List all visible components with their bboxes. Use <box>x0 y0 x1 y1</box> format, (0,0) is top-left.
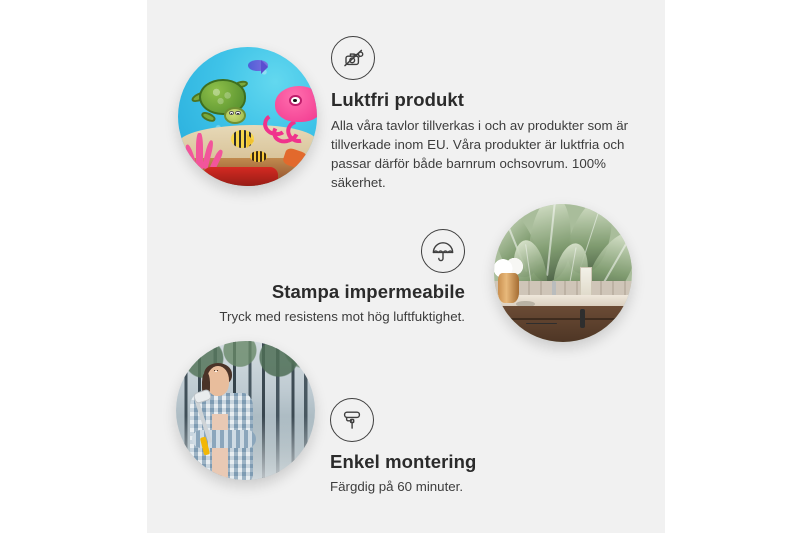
feature-odorless: Luktfri produkt Alla våra tavlor tillver… <box>331 36 631 193</box>
product-feature-panel: Luktfri produkt Alla våra tavlor tillver… <box>0 0 800 533</box>
fish-icon-yellow <box>231 130 255 148</box>
coral-icon <box>186 125 225 169</box>
feature-title: Luktfri produkt <box>331 89 631 111</box>
underwater-scene <box>178 47 317 186</box>
vanity-cabinet <box>494 306 632 342</box>
product-image-forest <box>176 341 315 480</box>
feature-title: Enkel montering <box>330 451 610 473</box>
vase-decoration <box>498 273 519 303</box>
product-image-underwater <box>178 47 317 186</box>
feature-title: Stampa impermeabile <box>215 281 465 303</box>
feature-easy-mount: Enkel montering Färgdig på 60 minuter. <box>330 398 610 497</box>
shipwreck-decoration <box>203 167 278 186</box>
umbrella-icon <box>421 229 465 273</box>
bathroom-scene <box>494 204 632 342</box>
no-perfume-icon <box>331 36 375 80</box>
person-figure <box>187 366 262 480</box>
octopus-icon <box>261 86 317 144</box>
turtle-icon <box>195 78 259 128</box>
feature-description: Färgdig på 60 minuter. <box>330 478 610 497</box>
product-image-bathroom <box>494 204 632 342</box>
feature-description: Tryck med resistens mot hög luftfuktighe… <box>215 308 465 327</box>
feature-description: Alla våra tavlor tillverkas i och av pro… <box>331 117 631 193</box>
forest-scene <box>176 341 315 480</box>
feature-waterproof: Stampa impermeabile Tryck med resistens … <box>215 229 465 327</box>
fish-icon-blue <box>248 60 269 71</box>
paint-roller-icon <box>330 398 374 442</box>
